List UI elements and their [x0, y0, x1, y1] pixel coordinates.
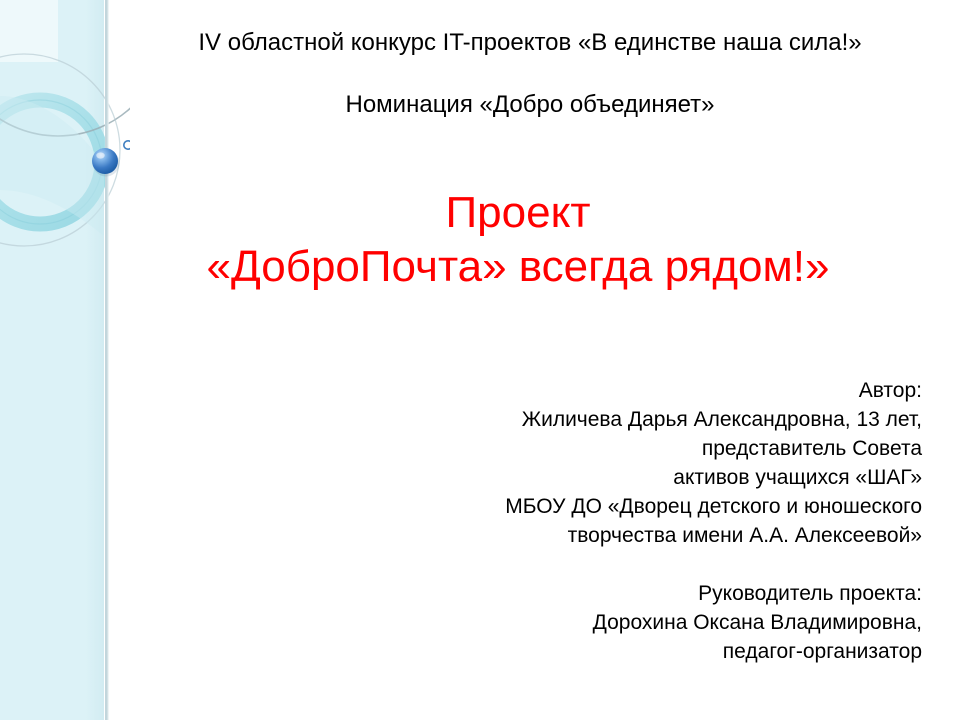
- supervisor-name: Дорохина Оксана Владимировна,: [302, 608, 922, 637]
- blue-sphere-highlight: [96, 152, 104, 158]
- author-role-line-2: активов учащихся «ШАГ»: [302, 463, 922, 492]
- author-name: Жиличева Дарья Александровна, 13 лет,: [302, 405, 922, 434]
- organization-line-2: творчества имени А.А. Алексеевой»: [302, 521, 922, 550]
- blue-sphere: [92, 148, 118, 174]
- supervisor-label: Руководитель проекта:: [302, 579, 922, 608]
- sidebar-highlight-block: [0, 0, 58, 62]
- nomination-line: Номинация «Добро объединяет»: [130, 88, 930, 122]
- author-label: Автор:: [302, 376, 922, 405]
- credits-spacer: [302, 550, 922, 579]
- sidebar-decoration: [0, 0, 130, 720]
- contest-title-line: IV областной конкурс IT-проектов «В един…: [130, 26, 930, 60]
- project-title-block: Проект «ДоброПочта» всегда рядом!»: [108, 186, 928, 294]
- sidebar-graphics: [0, 0, 130, 720]
- supervisor-role: педагог-организатор: [302, 637, 922, 666]
- project-title-line-1: Проект: [108, 186, 928, 240]
- sidebar-divider-highlight: [108, 0, 109, 720]
- header-text-block: IV областной конкурс IT-проектов «В един…: [130, 26, 930, 122]
- presentation-slide: IV областной конкурс IT-проектов «В един…: [0, 0, 960, 720]
- author-role-line-1: представитель Совета: [302, 434, 922, 463]
- credits-block: Автор: Жиличева Дарья Александровна, 13 …: [302, 376, 922, 666]
- organization-line-1: МБОУ ДО «Дворец детского и юношеского: [302, 492, 922, 521]
- sidebar-divider: [105, 0, 108, 720]
- project-title-line-2: «ДоброПочта» всегда рядом!»: [108, 240, 928, 294]
- small-blue-ring: [124, 141, 130, 149]
